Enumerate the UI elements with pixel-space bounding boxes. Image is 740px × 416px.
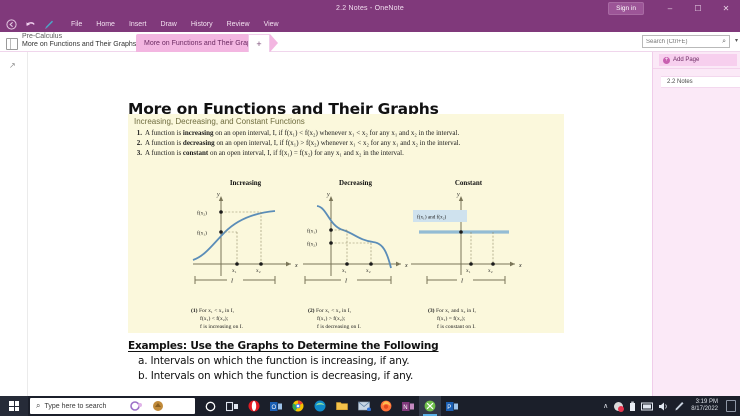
search-input[interactable]: [646, 39, 712, 45]
network-icon[interactable]: [641, 401, 653, 412]
windows-logo-icon: [9, 401, 19, 411]
expand-navigation-icon[interactable]: ↗: [9, 61, 16, 70]
svg-text:x₂: x₂: [366, 268, 371, 274]
notebook-name: Pre-Calculus: [22, 33, 136, 41]
caption-line-3: f is increasing on I.: [191, 324, 243, 330]
page-list-item-22-notes[interactable]: 2.2 Notes: [661, 76, 740, 88]
caption-line-3: f is constant on I.: [428, 324, 476, 330]
menu-item-review[interactable]: Review: [220, 19, 257, 30]
definition-text: A function is decreasing on an open inte…: [145, 139, 560, 148]
search-icon: ⌕: [36, 401, 40, 411]
svg-text:f(x₁): f(x₁): [307, 228, 317, 235]
plus-icon: +: [663, 57, 670, 64]
svg-text:x: x: [518, 263, 522, 269]
chrome-icon[interactable]: [287, 396, 309, 416]
current-section-name: More on Functions and Their Graphs: [22, 41, 136, 49]
definition-post: on an open interval, I, if f(x₁) < f(x₂)…: [214, 129, 460, 137]
definition-item-1: 1. A function is increasing on an open i…: [132, 129, 560, 138]
examples-heading: Examples: Use the Graphs to Determine th…: [128, 340, 548, 352]
add-page-label: Add Page: [673, 57, 699, 63]
antivirus-shield-icon[interactable]: [613, 401, 624, 412]
menu-item-home[interactable]: Home: [89, 19, 122, 30]
svg-text:y: y: [216, 192, 220, 198]
examples-item-b: b. Intervals on which the function is de…: [128, 370, 548, 382]
outlook-icon[interactable]: O: [265, 396, 287, 416]
definition-keyword: increasing: [183, 129, 214, 137]
minimize-button[interactable]: –: [656, 0, 684, 16]
section-tab-label: More on Functions and Their Graphs: [144, 40, 258, 47]
taskbar-search-placeholder: Type here to search: [44, 403, 106, 410]
show-desktop-button[interactable]: [726, 400, 736, 412]
svg-text:f(x₁) and f(x₂): f(x₁) and f(x₂): [417, 214, 447, 221]
opera-icon[interactable]: [243, 396, 265, 416]
add-page-button[interactable]: + Add Page: [659, 54, 737, 66]
graph-captions: (1) For x₁ < x₂ in I, f(x₁) < f(x₂); f i…: [128, 307, 564, 337]
search-chevron-down-icon[interactable]: ▾: [735, 37, 738, 44]
show-hidden-icons-chevron[interactable]: ∧: [603, 402, 608, 410]
definition-text: A function is constant on an open interv…: [145, 149, 560, 158]
caption-number: (2): [308, 308, 315, 314]
svg-text:x₁: x₁: [342, 268, 347, 274]
definition-post: on an open interval, I, if f(x₁) > f(x₂)…: [215, 139, 461, 147]
powerpoint-icon[interactable]: P: [441, 396, 463, 416]
menu-item-history[interactable]: History: [184, 19, 220, 30]
mail-icon[interactable]: [353, 396, 375, 416]
clock-time: 3:19 PM: [691, 399, 718, 406]
caption-constant: (3) For x₁ and x₂ in I, f(x₁) = f(x₂); f…: [428, 307, 476, 331]
excel-icon[interactable]: [419, 396, 441, 416]
notebook-icon: [6, 38, 18, 50]
svg-text:y: y: [326, 192, 330, 198]
examples-block[interactable]: Examples: Use the Graphs to Determine th…: [128, 340, 548, 382]
graph-constant-svg: x y f(x₁) and f(x₂) x₁: [405, 188, 533, 288]
svg-text:y: y: [456, 192, 460, 198]
svg-text:f(x₁): f(x₁): [197, 230, 207, 237]
definition-keyword: constant: [183, 149, 208, 157]
definition-number: 1.: [132, 129, 142, 138]
definition-list: 1. A function is increasing on an open i…: [132, 129, 560, 159]
volume-icon[interactable]: [658, 401, 669, 412]
system-tray: ∧ 3:19 PM 8/17/2022: [603, 399, 740, 412]
caption-number: (1): [191, 308, 198, 314]
svg-text:x₂: x₂: [488, 268, 493, 274]
caption-line-3: f is decreasing on I.: [308, 324, 361, 330]
page-gutter: ↗: [0, 52, 28, 396]
add-section-button[interactable]: +: [248, 34, 270, 52]
taskbar-app-icons: O N P: [199, 396, 463, 416]
svg-text:x₁: x₁: [232, 268, 237, 274]
page-list-panel: + Add Page 2.2 Notes: [652, 52, 740, 396]
svg-text:f(x₂): f(x₂): [197, 210, 207, 217]
definition-number: 3.: [132, 149, 142, 158]
graph-title-constant: Constant: [396, 179, 541, 187]
cortana-circle-icon[interactable]: [199, 396, 221, 416]
pen-input-icon[interactable]: [674, 401, 686, 412]
windows-taskbar: ⌕ Type here to search O: [0, 396, 740, 416]
onenote-icon[interactable]: N: [397, 396, 419, 416]
page-item-title: 2.2 Notes: [667, 79, 693, 85]
window-title: 2.2 Notes - OneNote: [336, 5, 404, 12]
caption-line-1: For x₁ < x₂ in I,: [199, 308, 234, 314]
firefox-icon[interactable]: [375, 396, 397, 416]
excerpt-heading: Increasing, Decreasing, and Constant Fun…: [134, 117, 305, 126]
definition-item-2: 2. A function is decreasing on an open i…: [132, 139, 560, 148]
notebook-nav-bar: Pre-Calculus More on Functions and Their…: [0, 32, 740, 52]
definition-pre: A function is: [145, 149, 183, 157]
menu-bar: File Home Insert Draw History Review Vie…: [58, 16, 358, 32]
file-explorer-icon[interactable]: [331, 396, 353, 416]
start-button[interactable]: [0, 396, 28, 416]
cortana-icon[interactable]: [130, 400, 144, 412]
search-icon[interactable]: ⌕: [722, 38, 726, 46]
svg-text:O: O: [272, 405, 277, 411]
caption-line-2: f(x₁) < f(x₂);: [191, 316, 228, 322]
pen-icon[interactable]: [44, 19, 55, 30]
menu-item-draw[interactable]: Draw: [153, 19, 183, 30]
svg-text:f(x₂): f(x₂): [307, 241, 317, 248]
task-view-icon[interactable]: [221, 396, 243, 416]
caption-decreasing: (2) For x₁ < x₂ in I, f(x₁) > f(x₂); f i…: [308, 307, 361, 331]
definition-keyword: decreasing: [183, 139, 215, 147]
notebook-selector[interactable]: Pre-Calculus More on Functions and Their…: [6, 33, 155, 50]
menu-item-insert[interactable]: Insert: [122, 19, 154, 30]
svg-text:x₁: x₁: [466, 268, 471, 274]
caption-line-2: f(x₁) = f(x₂);: [428, 316, 465, 322]
back-arrow-icon[interactable]: [6, 19, 17, 30]
note-canvas[interactable]: More on Functions and Their Graphs Incre…: [28, 52, 651, 396]
textbook-excerpt-image: Increasing, Decreasing, and Constant Fun…: [128, 114, 564, 333]
caption-line-1: For x₁ < x₂ in I,: [316, 308, 351, 314]
maximize-button[interactable]: ☐: [684, 0, 712, 16]
search-box[interactable]: ⌕: [642, 35, 730, 48]
examples-item-a: a. Intervals on which the function is in…: [128, 355, 548, 367]
menu-item-view[interactable]: View: [257, 19, 286, 30]
definition-text: A function is increasing on an open inte…: [145, 129, 560, 138]
caption-increasing: (1) For x₁ < x₂ in I, f(x₁) < f(x₂); f i…: [191, 307, 243, 331]
definition-pre: A function is: [145, 139, 183, 147]
taskbar-search-box[interactable]: ⌕ Type here to search: [30, 398, 195, 414]
caption-number: (3): [428, 308, 435, 314]
undo-icon[interactable]: [25, 19, 36, 30]
svg-text:N: N: [403, 405, 407, 411]
close-button[interactable]: ✕: [712, 0, 740, 16]
menu-item-file[interactable]: File: [64, 19, 89, 30]
battery-icon[interactable]: [629, 401, 636, 412]
definition-post: on an open interval, I, if f(x₁) = f(x₂)…: [208, 149, 404, 157]
svg-text:P: P: [447, 405, 451, 411]
edge-icon[interactable]: [309, 396, 331, 416]
title-bar: 2.2 Notes - OneNote Sign in – ☐ ✕: [0, 0, 740, 16]
svg-text:x₂: x₂: [256, 268, 261, 274]
panel-divider: [653, 68, 740, 69]
caption-line-2: f(x₁) > f(x₂);: [308, 316, 345, 322]
graph-row: Increasing x y: [128, 179, 564, 333]
definition-item-3: 3. A function is constant on an open int…: [132, 149, 560, 158]
clock-date: 8/17/2022: [691, 406, 718, 413]
caption-line-1: For x₁ and x₂ in I,: [436, 308, 476, 314]
sign-in-button[interactable]: Sign in: [608, 2, 644, 15]
news-weather-icon[interactable]: [152, 400, 164, 412]
definition-number: 2.: [132, 139, 142, 148]
onenote-window: 2.2 Notes - OneNote Sign in – ☐ ✕ ⋮ File…: [0, 0, 740, 416]
taskbar-clock[interactable]: 3:19 PM 8/17/2022: [691, 399, 718, 412]
definition-pre: A function is: [145, 129, 183, 137]
